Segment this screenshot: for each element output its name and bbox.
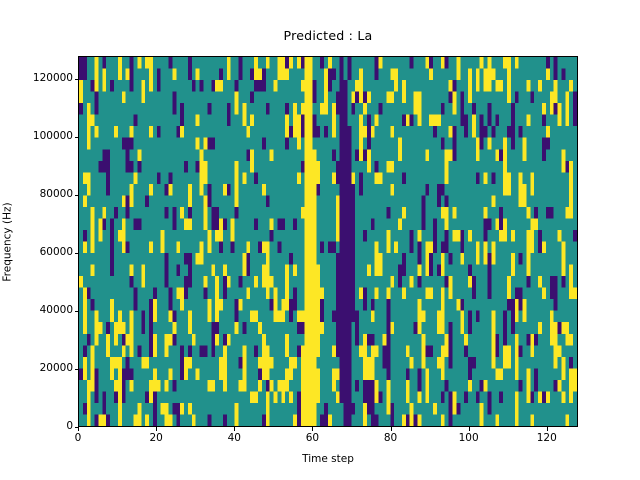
y-tick-mark xyxy=(75,137,79,138)
y-tick-label: 80000 xyxy=(40,189,73,200)
y-axis-label-text: Frequency (Hz) xyxy=(2,202,14,281)
y-tick-label: 60000 xyxy=(40,247,73,258)
y-tick-mark xyxy=(75,195,79,196)
x-tick-mark xyxy=(78,427,79,431)
x-tick-mark xyxy=(156,427,157,431)
y-tick-mark xyxy=(75,311,79,312)
x-tick-label: 40 xyxy=(204,433,264,444)
y-tick-mark xyxy=(75,253,79,254)
x-tick-mark xyxy=(469,427,470,431)
y-tick-label: 120000 xyxy=(33,73,73,84)
x-tick-mark xyxy=(391,427,392,431)
y-tick-label: 0 xyxy=(66,421,73,432)
heatmap-image xyxy=(79,57,577,426)
y-tick-label: 20000 xyxy=(40,363,73,374)
y-tick-mark xyxy=(75,369,79,370)
x-tick-mark xyxy=(234,427,235,431)
page-title: Predicted : La xyxy=(78,28,578,43)
x-tick-mark xyxy=(312,427,313,431)
x-tick-label: 100 xyxy=(439,433,499,444)
y-tick-label: 100000 xyxy=(33,131,73,142)
x-tick-label: 0 xyxy=(48,433,108,444)
x-tick-label: 20 xyxy=(126,433,186,444)
x-axis-label: Time step xyxy=(78,453,578,465)
y-tick-label: 40000 xyxy=(40,305,73,316)
x-tick-mark xyxy=(547,427,548,431)
heatmap-plot-area xyxy=(78,56,578,427)
figure-canvas: Predicted : La Frequency (Hz) 0200004000… xyxy=(0,0,640,480)
x-tick-label: 60 xyxy=(282,433,342,444)
x-tick-label: 120 xyxy=(517,433,577,444)
y-axis-label: Frequency (Hz) xyxy=(0,56,16,427)
x-tick-label: 80 xyxy=(361,433,421,444)
y-tick-mark xyxy=(75,79,79,80)
